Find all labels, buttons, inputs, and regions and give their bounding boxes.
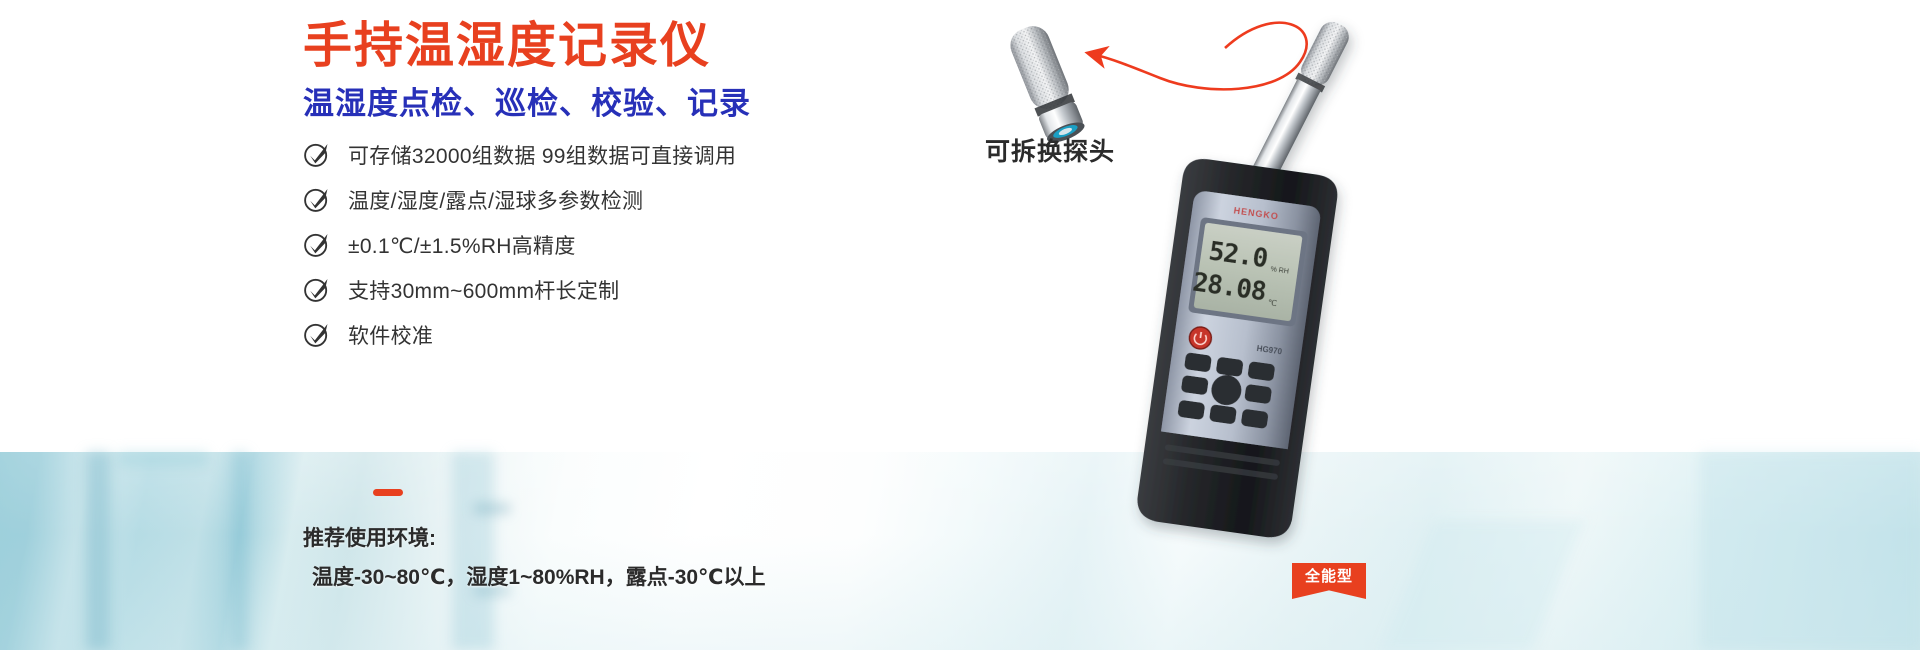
list-item: 可存储32000组数据 99组数据可直接调用 [303, 132, 943, 177]
page-title: 手持温湿度记录仪 [303, 6, 711, 77]
list-item: 支持30mm~600mm杆长定制 [303, 267, 943, 312]
feature-list: 可存储32000组数据 99组数据可直接调用 温度/湿度/露点/湿球多参数检测 … [303, 132, 943, 357]
background-left-shelf-blur [0, 452, 330, 650]
list-item: 软件校准 [303, 312, 943, 357]
probe-label: 可拆换探头 [985, 132, 1115, 168]
feature-text: 温度/湿度/露点/湿球多参数检测 [348, 185, 643, 215]
check-circle-icon [303, 141, 330, 168]
check-circle-icon [303, 186, 330, 213]
environment-title: 推荐使用环境: [303, 522, 436, 552]
list-item: 温度/湿度/露点/湿球多参数检测 [303, 177, 943, 222]
feature-text: ±0.1℃/±1.5%RH高精度 [348, 230, 576, 260]
feature-text: 可存储32000组数据 99组数据可直接调用 [348, 140, 736, 170]
section-divider-dash [373, 489, 403, 496]
environment-detail: 温度-30~80℃，湿度1~80%RH，露点-30℃以上 [312, 561, 766, 591]
check-circle-icon [303, 231, 330, 258]
check-circle-icon [303, 321, 330, 348]
page-subtitle: 温湿度点检、巡检、校验、记录 [303, 78, 751, 123]
feature-text: 支持30mm~600mm杆长定制 [348, 275, 619, 305]
feature-text: 软件校准 [348, 320, 433, 350]
list-item: ±0.1℃/±1.5%RH高精度 [303, 222, 943, 267]
banner-top-background [0, 0, 1920, 452]
check-circle-icon [303, 276, 330, 303]
product-banner: 手持温湿度记录仪 温湿度点检、巡检、校验、记录 可存储32000组数据 99组数… [0, 0, 1920, 650]
